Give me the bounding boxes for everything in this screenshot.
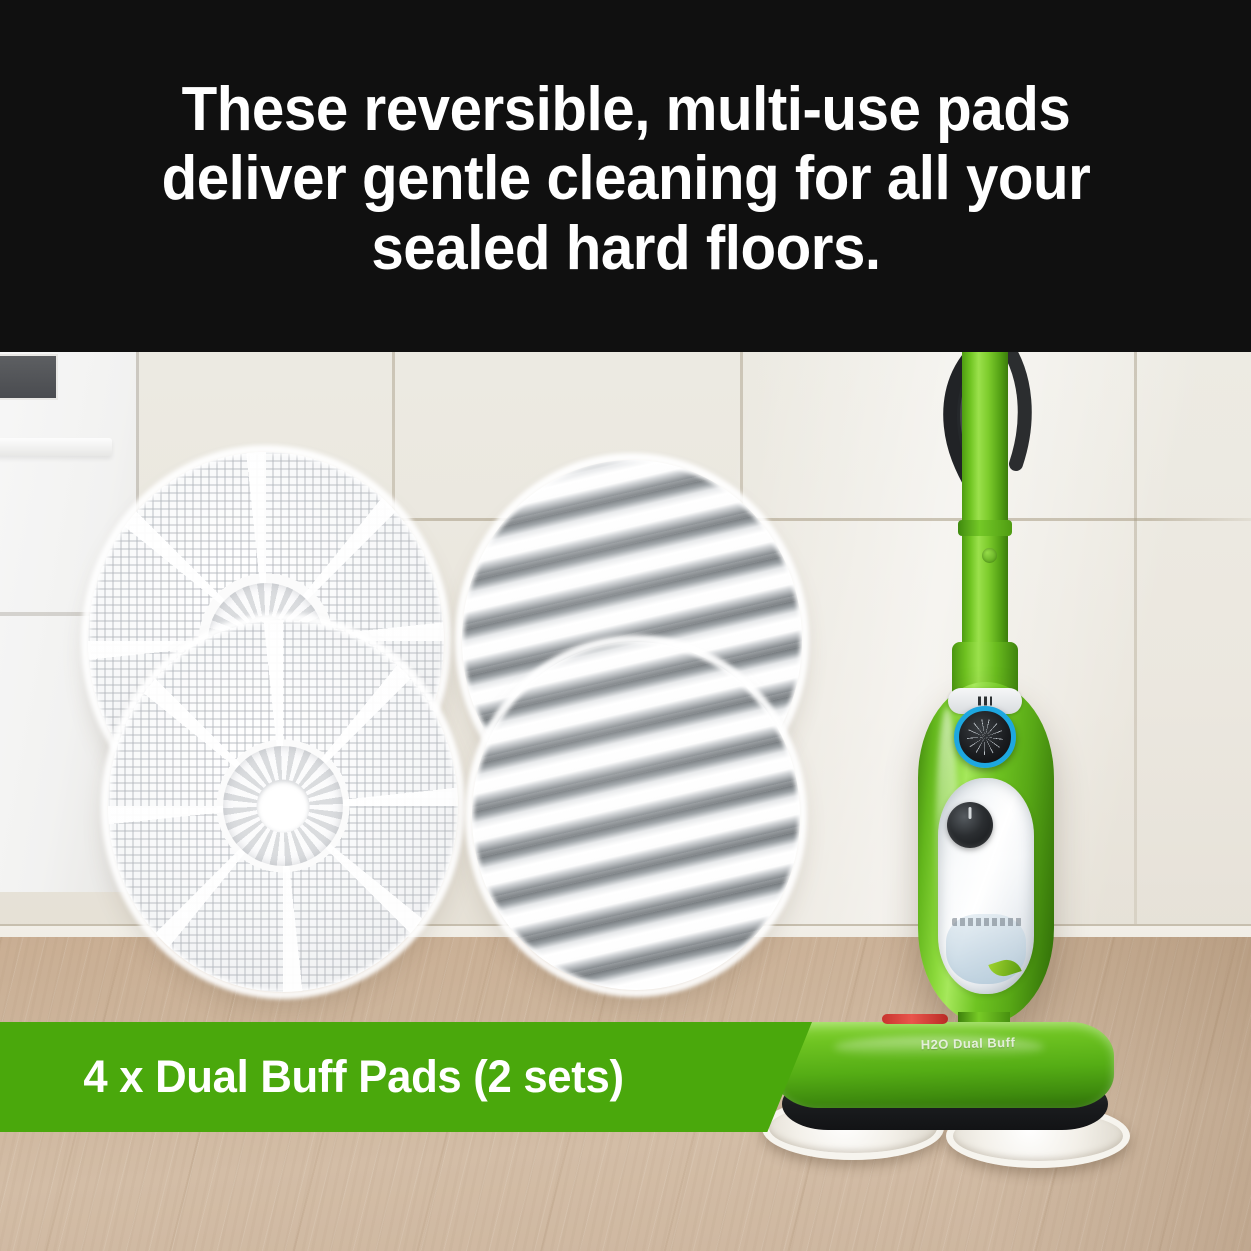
mop-pole xyxy=(962,352,1008,648)
head-highlight xyxy=(834,1036,1044,1058)
headline-line-1: These reversible, multi-use pads xyxy=(113,75,1138,144)
callout-banner: 4 x Dual Buff Pads (2 sets) xyxy=(0,1022,812,1132)
headline-line-2: deliver gentle cleaning for all your xyxy=(113,144,1138,213)
mop-head-shell xyxy=(774,1022,1114,1108)
header-banner: These reversible, multi-use pads deliver… xyxy=(0,0,1251,352)
steam-level-dial[interactable] xyxy=(954,706,1016,768)
mop-body xyxy=(918,682,1054,1024)
pole-release-button[interactable] xyxy=(982,548,997,563)
headline-line-3: sealed hard floors. xyxy=(113,214,1138,283)
mop-pole-collar xyxy=(958,520,1012,536)
headline: These reversible, multi-use pads deliver… xyxy=(113,69,1138,283)
tank-warning-label xyxy=(952,918,1022,926)
tank-cap-knob[interactable] xyxy=(947,802,993,848)
mop-head: H2O Dual Buff xyxy=(760,1012,1130,1142)
callout-label: 4 x Dual Buff Pads (2 sets) xyxy=(0,1051,624,1103)
dial-markings xyxy=(967,719,1003,755)
product-feature-card: H2O Dual Buff 4 x Dual Buff Pads (2 sets… xyxy=(0,0,1251,1251)
head-accent-stripe xyxy=(882,1014,948,1024)
